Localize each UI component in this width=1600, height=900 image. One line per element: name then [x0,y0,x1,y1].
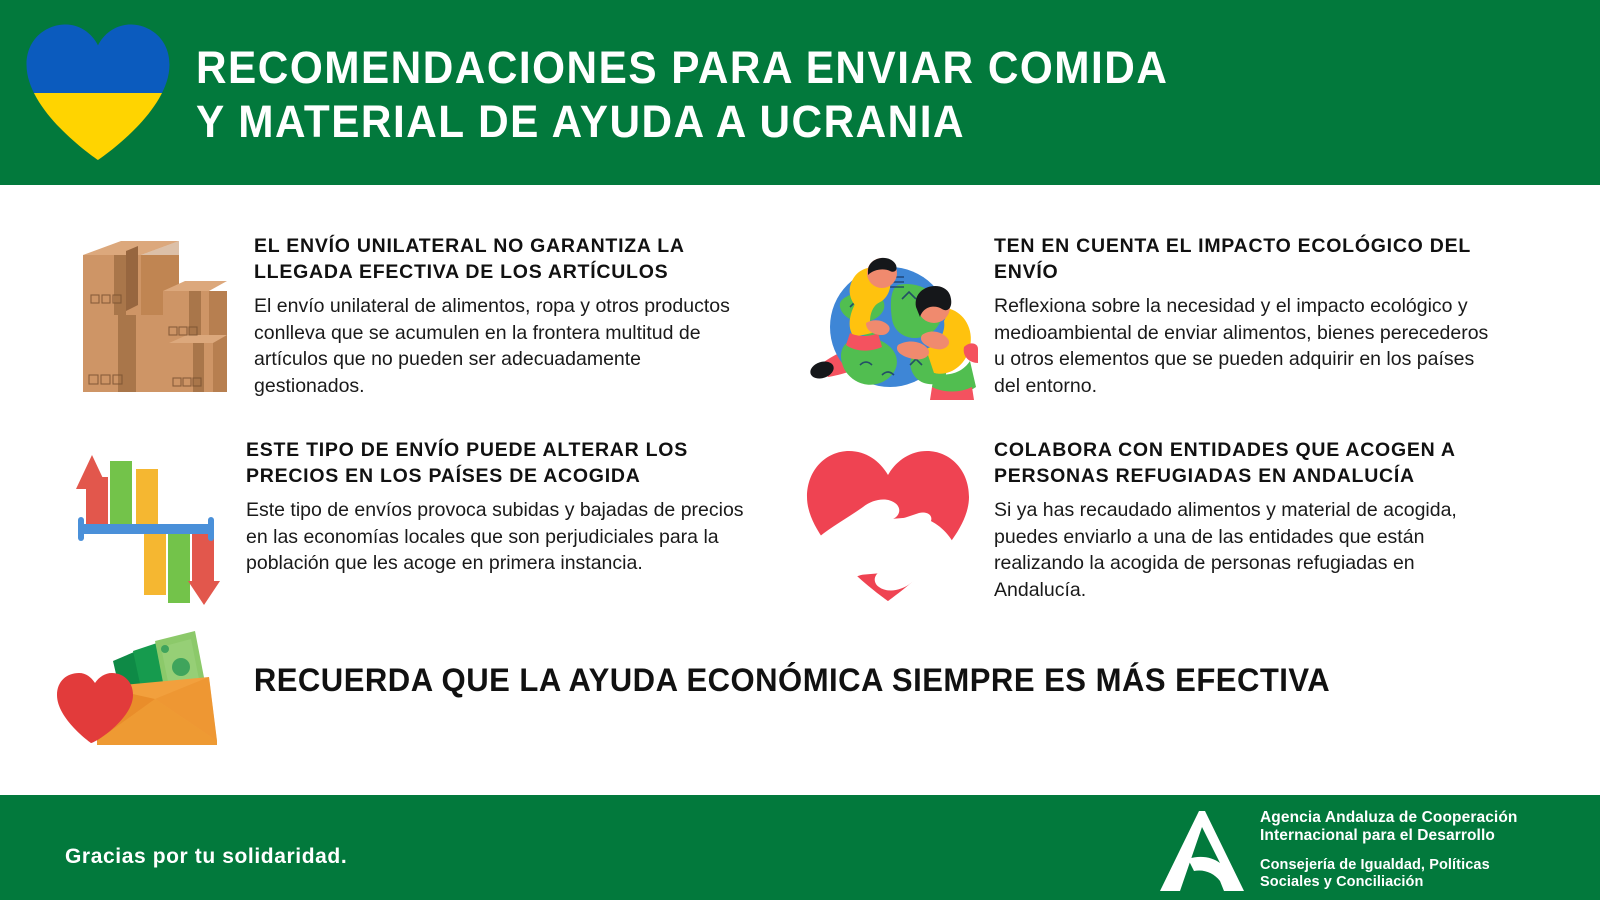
money-envelope-heart-icon [40,615,248,745]
tip-text: Reflexiona sobre la necesidad y el impac… [994,293,1494,399]
tip-text: El envío unilateral de alimentos, ropa y… [254,293,754,399]
tip-heading: EL ENVÍO UNILATERAL NO GARANTIZA LA LLEG… [254,233,754,285]
department-name-line-1: Consejería de Igualdad, Políticas [1260,857,1517,874]
tip-card-unilateral-shipping: EL ENVÍO UNILATERAL NO GARANTIZA LA LLEG… [48,233,768,399]
heart-with-hands-icon [788,437,988,606]
price-fluctuation-chart-icon [40,437,240,606]
tip-body: TEN EN CUENTA EL IMPACTO ECOLÓGICO DEL E… [988,233,1494,399]
tip-text: Si ya has recaudado alimentos y material… [994,497,1494,603]
tip-heading: ESTE TIPO DE ENVÍO PUEDE ALTERAR LOS PRE… [246,437,746,489]
ukraine-flag-heart-icon [0,0,180,185]
highlight-row-economic-aid: RECUERDA QUE LA AYUDA ECONÓMICA SIEMPRE … [40,615,1540,745]
footer-brand-text: Agencia Andaluza de Cooperación Internac… [1250,803,1517,891]
page-title-line-2: Y MATERIAL DE AYUDA A UCRANIA [196,95,1168,149]
footer-brand: Agencia Andaluza de Cooperación Internac… [1158,803,1517,898]
tip-body: COLABORA CON ENTIDADES QUE ACOGEN A PERS… [988,437,1494,603]
cardboard-boxes-icon [48,233,248,392]
footer-banner: Gracias por tu solidaridad. Agencia Anda… [0,795,1600,900]
footer-thanks-text: Gracias por tu solidaridad. [65,845,347,869]
agency-name-line-2: Internacional para el Desarrollo [1260,827,1517,845]
highlight-text: RECUERDA QUE LA AYUDA ECONÓMICA SIEMPRE … [248,662,1330,699]
tips-grid: EL ENVÍO UNILATERAL NO GARANTIZA LA LLEG… [0,185,1600,795]
header-title-group: RECOMENDACIONES PARA ENVIAR COMIDA Y MAT… [180,37,1230,149]
agency-name-line-1: Agencia Andaluza de Cooperación [1260,809,1517,827]
tip-body: EL ENVÍO UNILATERAL NO GARANTIZA LA LLEG… [248,233,754,399]
tip-body: ESTE TIPO DE ENVÍO PUEDE ALTERAR LOS PRE… [240,437,746,577]
tip-card-price-alteration: ESTE TIPO DE ENVÍO PUEDE ALTERAR LOS PRE… [40,437,760,606]
tip-card-collaborate-entities: COLABORA CON ENTIDADES QUE ACOGEN A PERS… [788,437,1508,606]
department-name-line-2: Sociales y Conciliación [1260,874,1517,891]
tip-card-ecological-impact: TEN EN CUENTA EL IMPACTO ECOLÓGICO DEL E… [788,233,1508,402]
junta-de-andalucia-a-logo [1158,803,1250,898]
infographic-poster: RECOMENDACIONES PARA ENVIAR COMIDA Y MAT… [0,0,1600,900]
tip-heading: COLABORA CON ENTIDADES QUE ACOGEN A PERS… [994,437,1494,489]
tip-text: Este tipo de envíos provoca subidas y ba… [246,497,746,577]
people-hugging-globe-icon [788,233,988,402]
tip-heading: TEN EN CUENTA EL IMPACTO ECOLÓGICO DEL E… [994,233,1494,285]
page-title-line-1: RECOMENDACIONES PARA ENVIAR COMIDA [196,41,1168,95]
header-banner: RECOMENDACIONES PARA ENVIAR COMIDA Y MAT… [0,0,1600,185]
